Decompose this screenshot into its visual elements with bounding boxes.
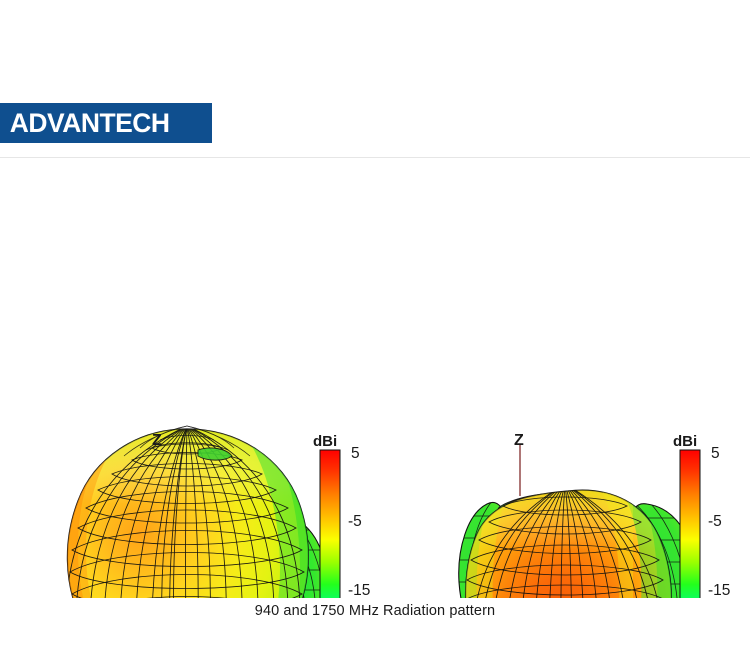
figure-caption: 940 and 1750 MHz Radiation pattern bbox=[0, 603, 750, 619]
radiation-plot-1750mhz: X Y Z dBi 5 -5 -15 -25 -35 bbox=[375, 158, 750, 598]
colorbar-tick-1750mhz-1: -5 bbox=[708, 513, 722, 530]
colorbar-gradient-940mhz bbox=[320, 450, 340, 598]
colorbar-title-940mhz: dBi bbox=[313, 433, 337, 450]
radiation-plot-940mhz: X Y Z dBi 5 -5 -15 -25 -35 bbox=[0, 158, 375, 598]
colorbar-1750mhz: dBi 5 -5 -15 -25 -35 bbox=[673, 433, 730, 598]
radiation-pattern-figure: X Y Z dBi 5 -5 -15 -25 -35 bbox=[0, 158, 750, 598]
advantech-logo-wordmark: ADVANTECH bbox=[0, 108, 170, 139]
page-header: ADVANTECH bbox=[0, 0, 750, 158]
colorbar-940mhz: dBi 5 -5 -15 -25 -35 bbox=[313, 433, 370, 598]
z-axis-label-1750mhz: Z bbox=[514, 432, 524, 449]
colorbar-tick-1750mhz-0: 5 bbox=[711, 445, 720, 462]
radiation-surface-940mhz bbox=[46, 424, 336, 598]
colorbar-gradient-1750mhz bbox=[680, 450, 700, 598]
radiation-surface-1750mhz bbox=[453, 482, 707, 598]
radiation-plot-940mhz-canvas: X Y Z dBi 5 -5 -15 -25 -35 bbox=[0, 158, 375, 598]
advantech-logo: ADVANTECH bbox=[0, 103, 212, 143]
colorbar-title-1750mhz: dBi bbox=[673, 433, 697, 450]
colorbar-tick-1750mhz-2: -15 bbox=[708, 582, 730, 598]
radiation-plot-1750mhz-canvas: X Y Z dBi 5 -5 -15 -25 -35 bbox=[375, 158, 750, 598]
z-axis-label-940mhz: Z bbox=[152, 432, 162, 449]
colorbar-tick-940mhz-1: -5 bbox=[348, 513, 362, 530]
colorbar-tick-940mhz-0: 5 bbox=[351, 445, 360, 462]
colorbar-tick-940mhz-2: -15 bbox=[348, 582, 370, 598]
